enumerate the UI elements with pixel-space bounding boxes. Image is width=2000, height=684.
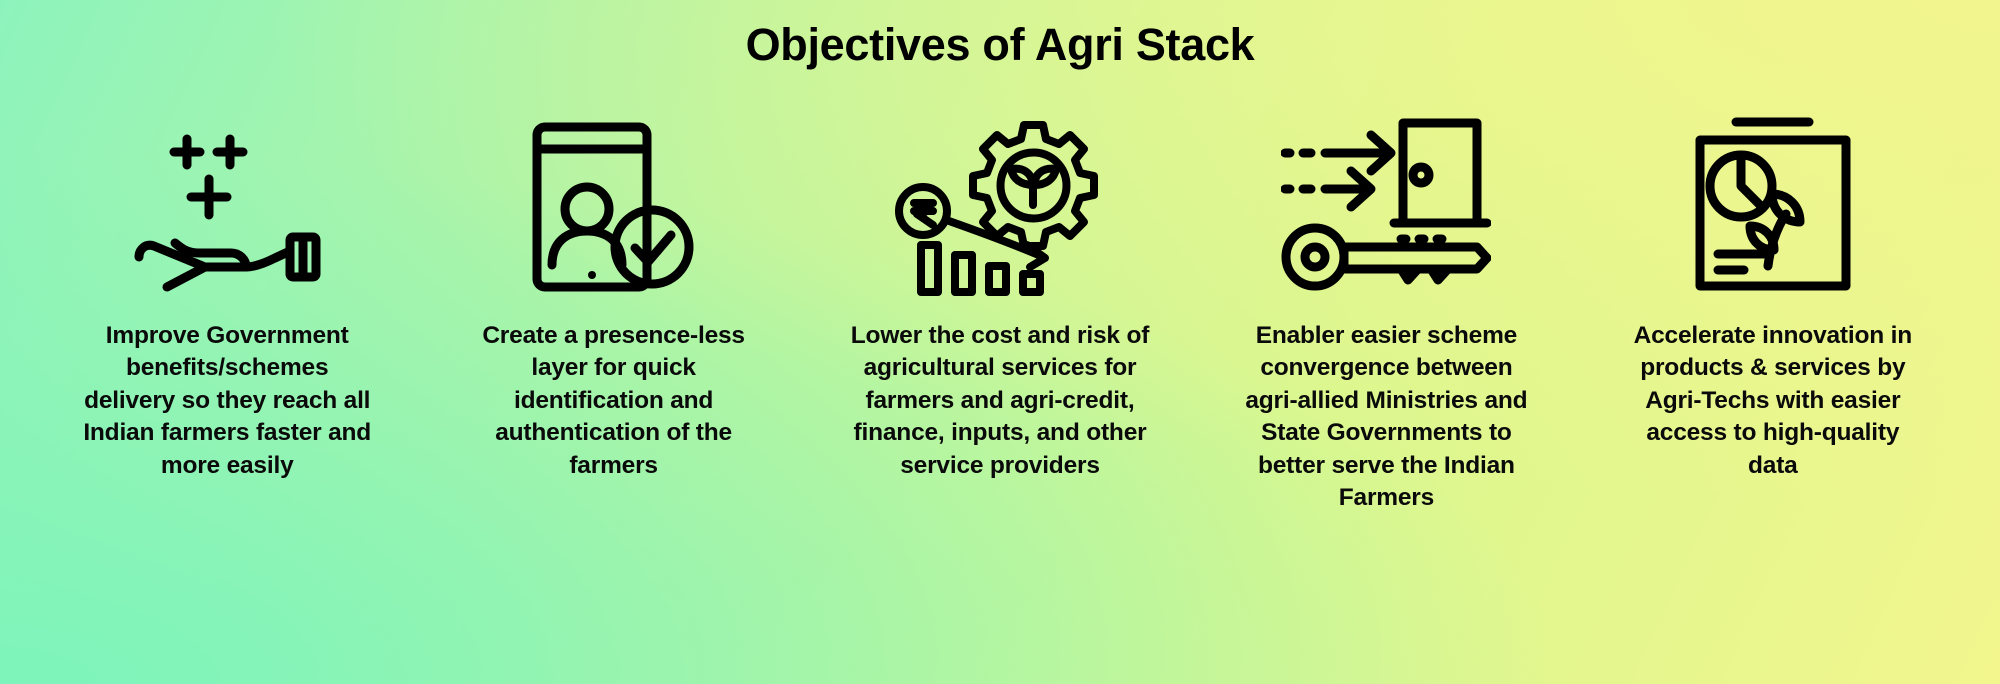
objective-card-benefits-delivery[interactable]: Improve Government benefits/schemes deli…	[34, 112, 420, 483]
objective-caption: Accelerate innovation in products & serv…	[1623, 320, 1923, 483]
rupee-gear-declining-bars-icon	[885, 112, 1115, 302]
objective-card-scheme-convergence[interactable]: Enabler easier scheme convergence betwee…	[1193, 112, 1579, 515]
hand-with-plus-signs-icon	[112, 112, 342, 302]
objective-card-lower-cost-risk[interactable]: Lower the cost and risk of agricultural …	[807, 112, 1193, 483]
infographic-board: Objectives of Agri Stack Improve Governm…	[0, 0, 2000, 684]
objective-card-presence-less-layer[interactable]: Create a presence-less layer for quick i…	[420, 112, 806, 483]
objective-caption: Enabler easier scheme convergence betwee…	[1236, 320, 1536, 515]
phone-person-verified-icon	[499, 112, 729, 302]
arrows-door-key-icon	[1271, 112, 1501, 302]
objective-caption: Create a presence-less layer for quick i…	[464, 320, 764, 483]
objectives-row: Improve Government benefits/schemes deli…	[0, 112, 2000, 515]
page-title: Objectives of Agri Stack	[0, 20, 2000, 70]
objective-caption: Improve Government benefits/schemes deli…	[77, 320, 377, 483]
report-piechart-plant-icon	[1658, 112, 1888, 302]
objective-caption: Lower the cost and risk of agricultural …	[850, 320, 1150, 483]
objective-card-accelerate-innovation[interactable]: Accelerate innovation in products & serv…	[1580, 112, 1966, 483]
